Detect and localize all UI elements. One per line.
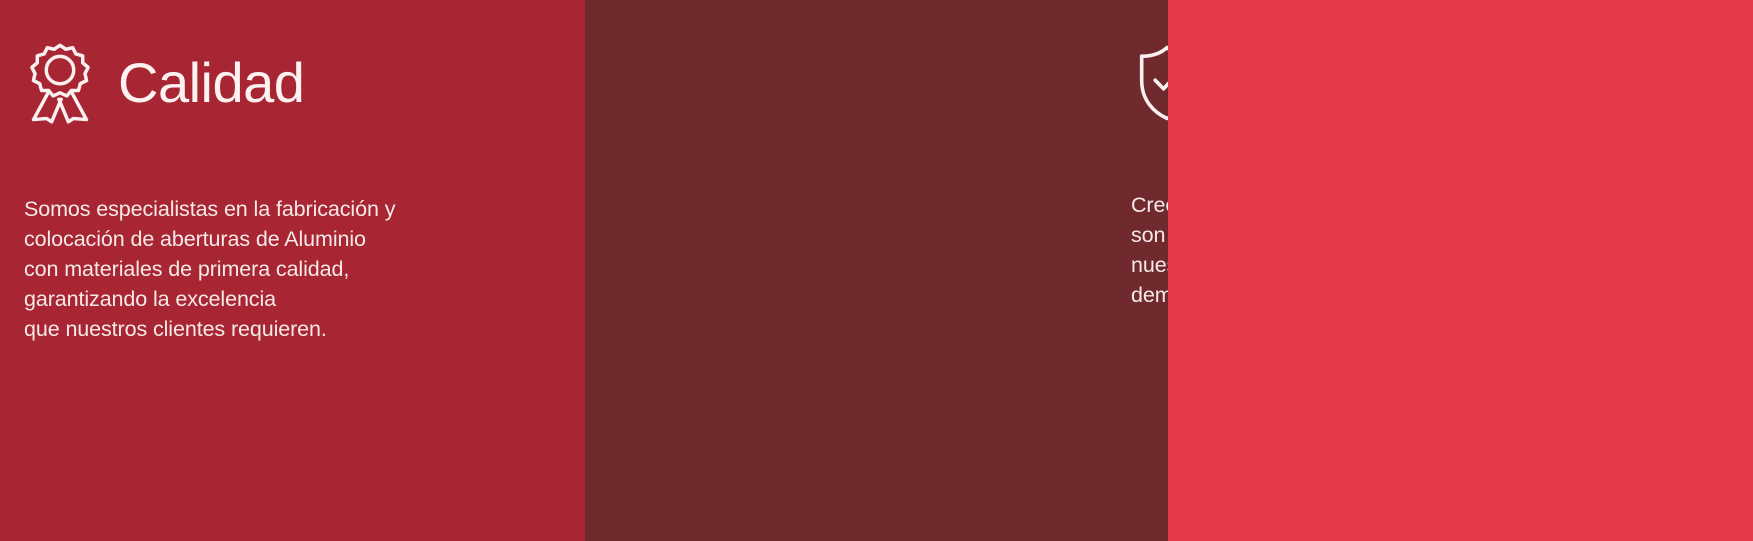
feature-panel-seguridad: Seguridad Creemos que la seguridad y el … xyxy=(585,0,1168,541)
award-ribbon-icon xyxy=(24,40,96,126)
features-section: Calidad Somos especialistas en la fabric… xyxy=(0,0,1753,541)
panel-description-calidad: Somos especialistas en la fabricación y … xyxy=(24,194,494,344)
shield-check-icon xyxy=(1131,40,1168,126)
panel-description-seguridad: Creemos que la seguridad y el respeto so… xyxy=(1131,190,1168,310)
feature-panel-calidad: Calidad Somos especialistas en la fabric… xyxy=(0,0,585,541)
panel-header-seguridad: Seguridad xyxy=(1131,40,1168,126)
panel-content-seguridad: Seguridad Creemos que la seguridad y el … xyxy=(585,0,1168,541)
panel-header-calidad: Calidad xyxy=(24,40,304,126)
feature-panel-confianza: Confianza Al elegir nuestros servicios c… xyxy=(1168,0,1753,541)
panel-content-confianza: Confianza Al elegir nuestros servicios c… xyxy=(1168,0,1753,541)
panel-content-calidad: Calidad Somos especialistas en la fabric… xyxy=(0,0,585,541)
panel-title-calidad: Calidad xyxy=(118,54,304,113)
